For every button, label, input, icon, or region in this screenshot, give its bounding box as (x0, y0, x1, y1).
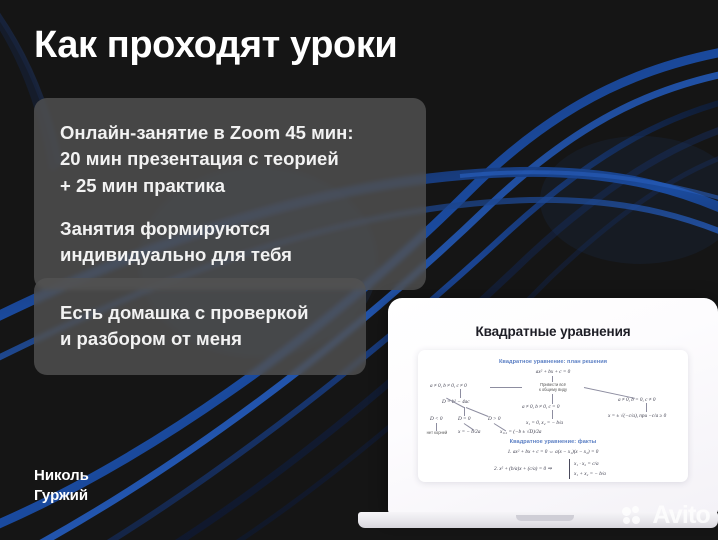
author-last-name: Гуржий (34, 486, 89, 506)
arrow-down-icon (646, 403, 647, 412)
single-root: x = − b/2a (458, 429, 480, 435)
card-paragraph: Онлайн-занятие в Zoom 45 мин: 20 мин пре… (60, 120, 400, 199)
system-brace (569, 459, 570, 479)
case-zero: D = 0 (458, 416, 470, 422)
page-title: Как проходят уроки (34, 25, 397, 67)
card-paragraph: Есть домашка с проверкой и разбором от м… (60, 300, 340, 353)
arrow-down-icon (552, 410, 553, 419)
avito-brand-text: Avito (652, 503, 710, 528)
branch-middle-condition: a ≠ 0, b ≠ 0, c = 0 (522, 404, 559, 410)
avito-dots-icon (622, 506, 648, 526)
no-roots-label: нет корней (420, 430, 454, 435)
laptop-screen: Квадратные уравнения Квадратное уравнени… (388, 298, 718, 514)
two-roots: x₁,₂ = (−b ± √D)/2a (500, 429, 542, 435)
case-negative: D < 0 (430, 416, 442, 422)
card-paragraph: Занятия формируются индивидуально для те… (60, 216, 400, 269)
right-roots: x = ± √(−c/a), при −c/a ≥ 0 (608, 413, 666, 419)
laptop-base-notch (516, 515, 574, 521)
fact-1: 1. ax² + bx + c = 0 ⇔ a(x − x₁)(x − x₂) … (418, 449, 688, 455)
diagram-heading-plan: Квадратное уравнение: план решения (418, 359, 688, 365)
convert-note: Привести всё к общему виду (524, 382, 582, 392)
info-card-lesson-format: Онлайн-занятие в Zoom 45 мин: 20 мин пре… (34, 98, 426, 290)
arrow-down-icon (460, 389, 461, 398)
author-name: Николь Гуржий (34, 466, 89, 507)
arrow-down-icon (552, 376, 553, 382)
avito-watermark: Avito (622, 503, 710, 528)
root-equation: ax² + bx + c = 0 (418, 369, 688, 375)
slide-diagram-board: Квадратное уравнение: план решения ax² +… (418, 350, 688, 482)
presentation-slide: Квадратные уравнения Квадратное уравнени… (388, 298, 718, 514)
branch-left-condition: a ≠ 0, b ≠ 0, c ≠ 0 (430, 383, 467, 389)
fact-2: 2. x² + (b/a)x + (c/a) = 0 ⇒ (494, 466, 552, 472)
fact-2-system-line-2: x₁ + x₂ = − b/a (574, 471, 606, 477)
info-card-homework: Есть домашка с проверкой и разбором от м… (34, 278, 366, 375)
arrow-left-icon (490, 387, 522, 388)
diagram-heading-facts: Квадратное уравнение: факты (418, 439, 688, 445)
author-first-name: Николь (34, 466, 89, 486)
middle-roots: x₁ = 0, x₂ = − b/a (526, 420, 563, 426)
arrow-branch-icon (464, 407, 465, 416)
case-positive: D > 0 (488, 416, 500, 422)
arrow-down-icon (552, 394, 553, 404)
slide-title: Квадратные уравнения (388, 324, 718, 339)
fact-2-system-line-1: x₁ · x₂ = c/a (574, 461, 599, 467)
branch-right-condition: a ≠ 0, b = 0, c ≠ 0 (618, 397, 655, 403)
slide-canvas: Как проходят уроки Онлайн-занятие в Zoom… (0, 0, 718, 540)
